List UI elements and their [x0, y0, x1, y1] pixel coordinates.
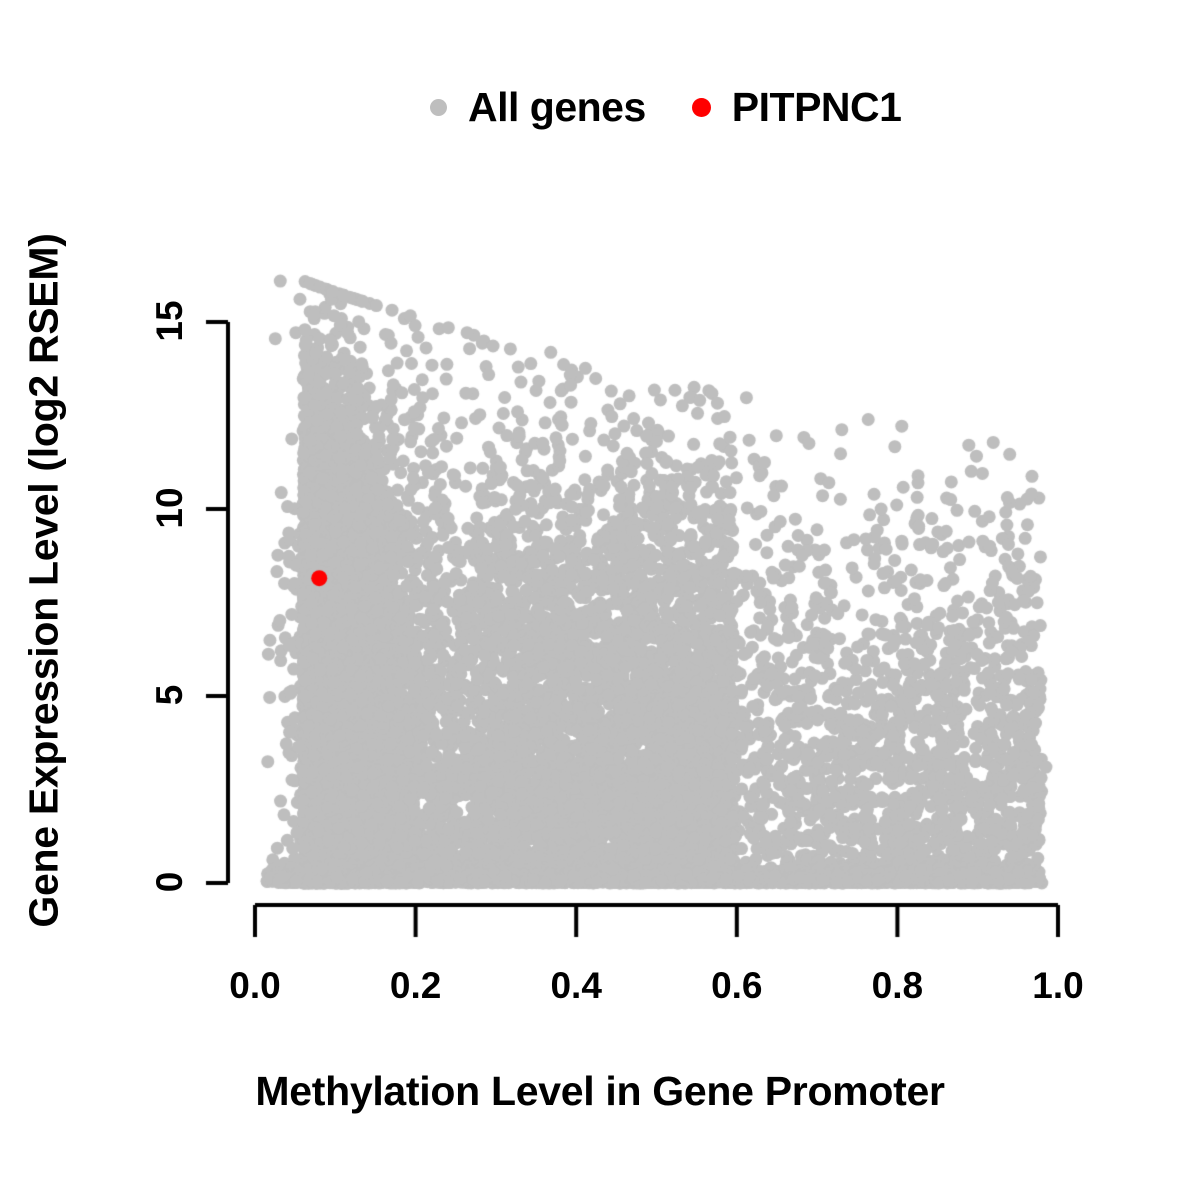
- legend-entry-all-genes: All genes: [430, 84, 646, 131]
- legend-marker-all-genes-icon: [430, 99, 447, 116]
- scatter-plot-canvas: [0, 0, 1200, 1200]
- legend: All genes PITPNC1: [430, 78, 901, 136]
- y-tick-label: 10: [149, 448, 191, 568]
- x-tick-label: 0.0: [195, 965, 315, 1007]
- x-tick-label: 0.8: [837, 965, 957, 1007]
- y-tick-label: 15: [149, 261, 191, 381]
- x-tick-label: 0.4: [516, 965, 636, 1007]
- x-axis-title: Methylation Level in Gene Promoter: [0, 1068, 1200, 1115]
- legend-label-pitpnc1: PITPNC1: [732, 84, 902, 131]
- y-axis-title: Gene Expression Level (log2 RSEM): [21, 231, 68, 931]
- legend-marker-pitpnc1-icon: [692, 98, 711, 117]
- figure-root: All genes PITPNC1 Methylation Level in G…: [0, 0, 1200, 1200]
- x-tick-label: 0.2: [356, 965, 476, 1007]
- x-tick-label: 0.6: [677, 965, 797, 1007]
- y-tick-label: 0: [149, 822, 191, 942]
- legend-entry-pitpnc1: PITPNC1: [692, 84, 902, 131]
- y-tick-label: 5: [149, 635, 191, 755]
- legend-label-all-genes: All genes: [468, 84, 646, 131]
- x-tick-label: 1.0: [998, 965, 1118, 1007]
